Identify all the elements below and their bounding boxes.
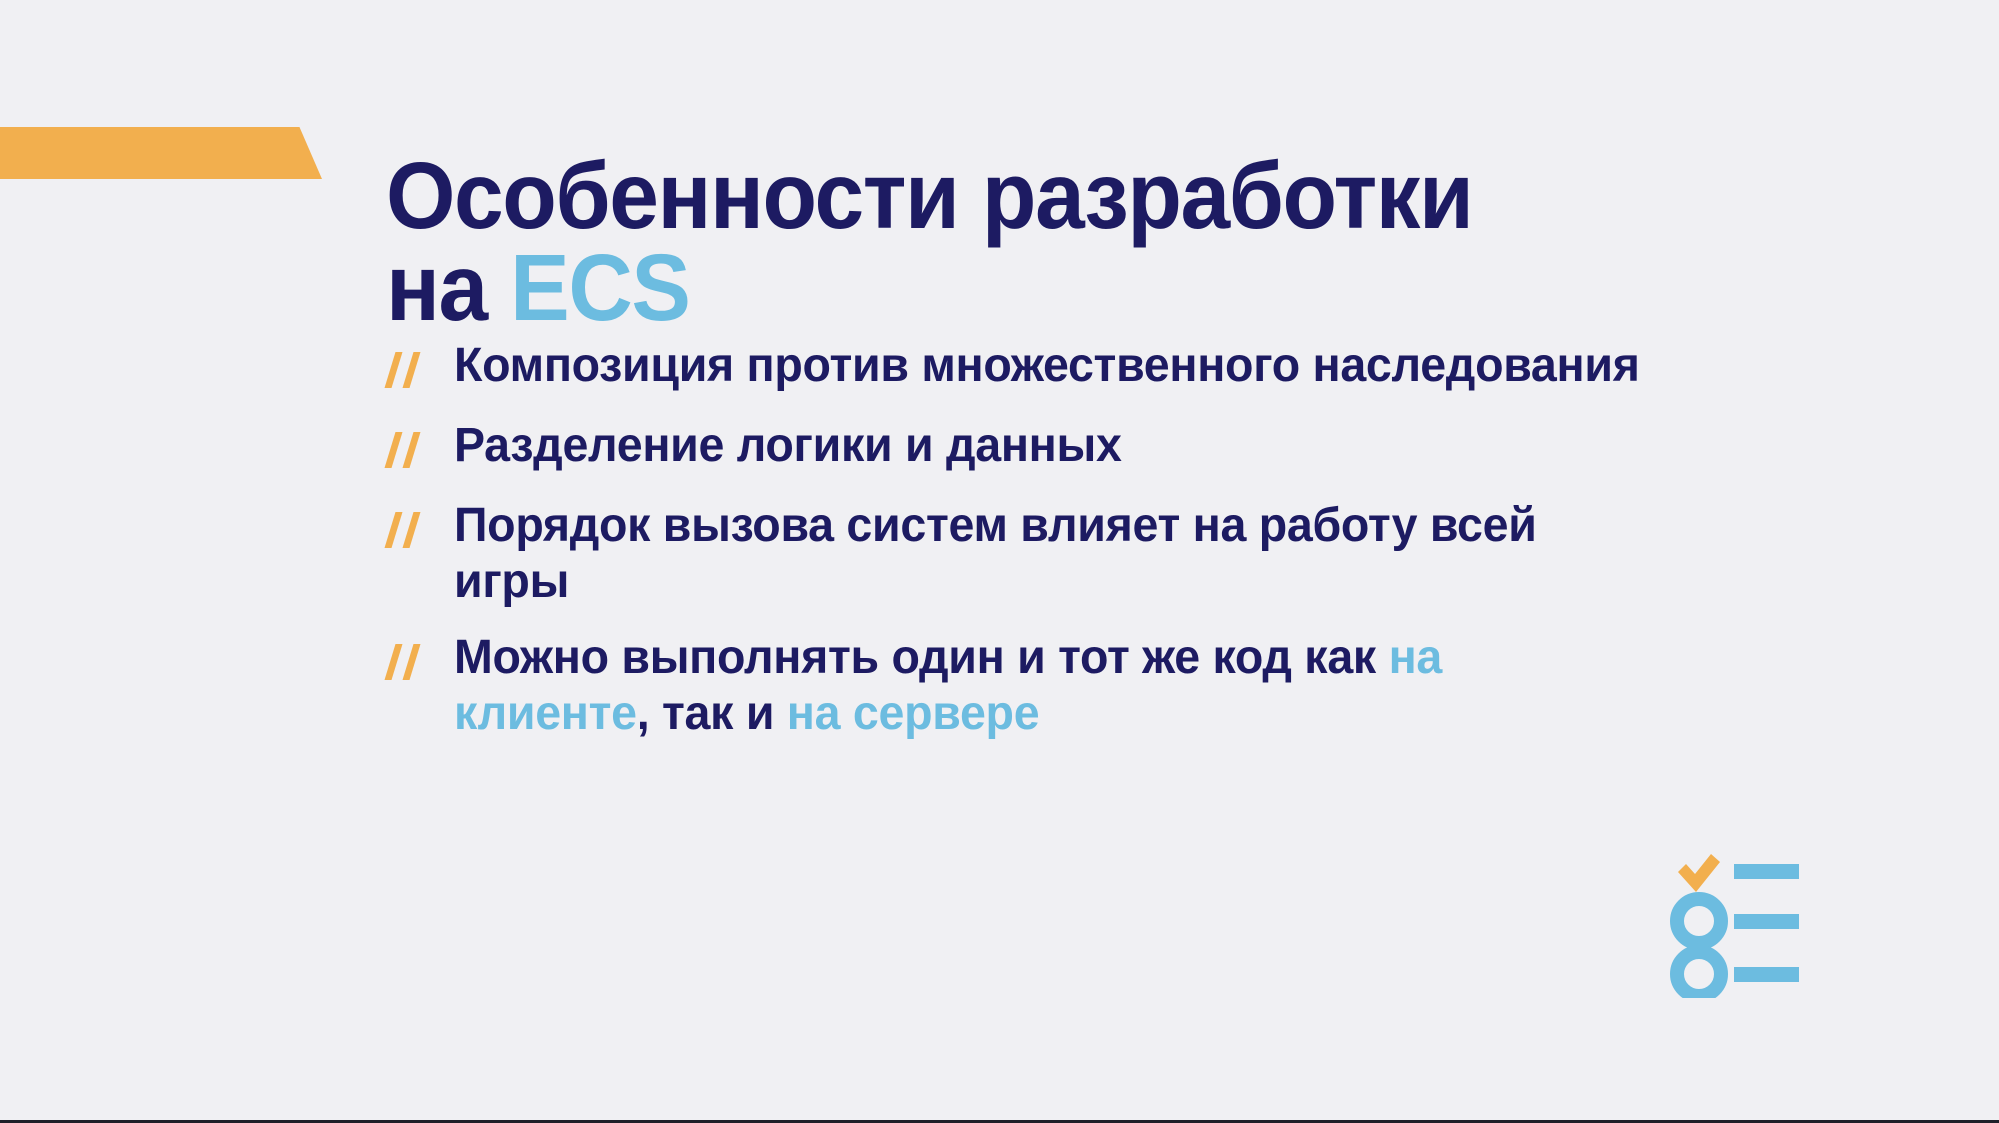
ring-icon [1677,899,1721,943]
double-slash-bullet-icon [386,428,454,478]
list-item: Порядок вызова систем влияет на работу в… [386,498,1686,610]
double-slash-bullet-icon [386,348,454,398]
list-item: Можно выполнять один и тот же код как на… [386,630,1686,742]
checklist-decoration [1664,846,1840,998]
double-slash-bullet-icon [386,640,454,690]
title-line-1: Особенности разработки [386,143,1473,249]
slide-title: Особенности разработки на ECS [386,150,1608,334]
list-item-text: Можно выполнять один и тот же код как на… [454,630,1649,742]
list-item: Композиция против множественного наследо… [386,338,1686,398]
orange-accent-bar [0,127,322,179]
bullet-4-segment-3: , так и [637,687,787,740]
list-item-text: Порядок вызова систем влияет на работу в… [454,498,1649,610]
list-bar-2 [1734,914,1799,929]
double-slash-bullet-icon [386,508,454,558]
bullet-list: Композиция против множественного наследо… [386,338,1686,763]
title-line-2-prefix: на [386,235,510,341]
list-item: Разделение логики и данных [386,418,1686,478]
ring-icon [1677,952,1721,996]
list-bar-1 [1734,864,1799,879]
bullet-4-highlight-server: на сервере [787,687,1040,740]
bullet-1-text: Композиция против множественного наследо… [454,339,1640,392]
list-item-text: Разделение логики и данных [454,418,1649,474]
bullet-4-segment-1: Можно выполнять один и тот же код как [454,631,1389,684]
title-accent-ecs: ECS [510,235,689,341]
list-item-text: Композиция против множественного наследо… [454,338,1649,394]
list-bar-3 [1734,967,1799,982]
presentation-slide: Особенности разработки на ECS Композиция… [0,0,1999,1123]
check-mark-icon [1678,854,1720,892]
bullet-2-text: Разделение логики и данных [454,419,1122,472]
bullet-3-text: Порядок вызова систем влияет на работу в… [454,499,1537,608]
